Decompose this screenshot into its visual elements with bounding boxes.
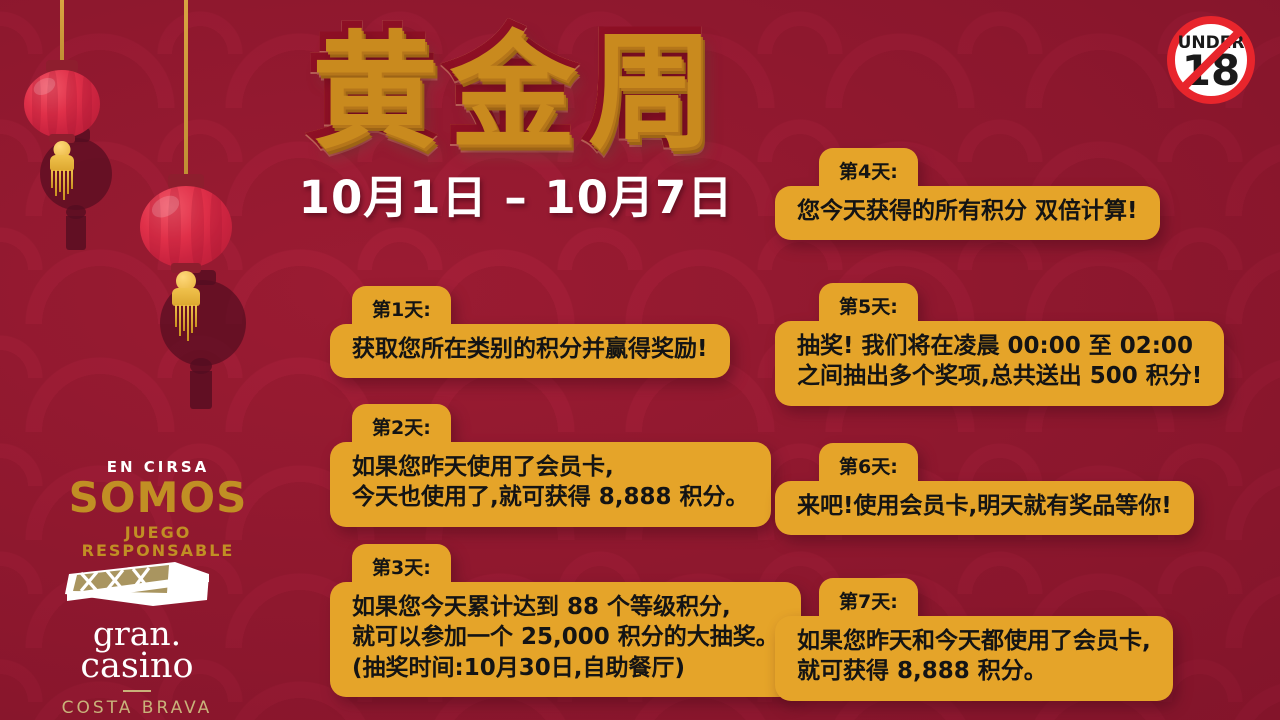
day-card-6-body: 来吧!使用会员卡,明天就有奖品等你! (775, 481, 1194, 535)
day-card-3-line-3: (抽奖时间:10月30日,自助餐厅) (352, 653, 779, 683)
day-card-4[interactable]: 第4天: 您今天获得的所有积分 双倍计算! (775, 148, 1160, 240)
under-18-badge-number: 18 (1182, 46, 1240, 95)
day-card-3-line-2: 就可以参加一个 25,000 积分的大抽奖。 (352, 622, 779, 652)
day-card-2-body: 如果您昨天使用了会员卡, 今天也使用了,就可获得 8,888 积分。 (330, 442, 771, 527)
poster-root: 黄金周 10月1日 – 10月7日 第1天: 获取您所在类别的积分并赢得奖励! … (0, 0, 1280, 720)
lantern-tassel-strands-2 (175, 305, 197, 341)
day-card-1[interactable]: 第1天: 获取您所在类别的积分并赢得奖励! (330, 286, 730, 378)
title-block: 黄金周 10月1日 – 10月7日 (296, 18, 736, 226)
responsible-gaming-logo: EN CIRSA SOMOS JUEGO RESPONSABLE (58, 460, 258, 560)
day-card-2-header: 第2天: (352, 404, 451, 446)
lantern-body-2 (140, 186, 232, 268)
day-card-1-body: 获取您所在类别的积分并赢得奖励! (330, 324, 730, 378)
day-card-7-header: 第7天: (819, 578, 918, 620)
under-18-badge-icon: UNDER 18 (1163, 12, 1259, 108)
day-card-7-body: 如果您昨天和今天都使用了会员卡, 就可获得 8,888 积分。 (775, 616, 1173, 701)
day-card-5[interactable]: 第5天: 抽奖! 我们将在凌晨 00:00 至 02:00 之间抽出多个奖项,总… (775, 283, 1224, 406)
day-card-1-header: 第1天: (352, 286, 451, 328)
day-card-5-line-1: 抽奖! 我们将在凌晨 00:00 至 02:00 (797, 331, 1202, 361)
lantern-cord-2 (184, 0, 188, 176)
day-card-3[interactable]: 第3天: 如果您今天累计达到 88 个等级积分, 就可以参加一个 25,000 … (330, 544, 801, 697)
day-card-2[interactable]: 第2天: 如果您昨天使用了会员卡, 今天也使用了,就可获得 8,888 积分。 (330, 404, 771, 527)
day-card-5-line-2: 之间抽出多个奖项,总共送出 500 积分! (797, 361, 1202, 391)
day-card-2-line-1: 如果您昨天使用了会员卡, (352, 452, 749, 482)
day-card-6-header: 第6天: (819, 443, 918, 485)
casino-logo-name: gran. casino (42, 618, 232, 683)
somos-logo-main: SOMOS (58, 477, 258, 519)
casino-building-icon (57, 560, 217, 612)
day-card-4-header: 第4天: (819, 148, 918, 190)
day-card-7-line-1: 如果您昨天和今天都使用了会员卡, (797, 626, 1151, 656)
day-card-6-line-1: 来吧!使用会员卡,明天就有奖品等你! (797, 491, 1172, 521)
lantern-decoration-2 (0, 0, 300, 470)
day-card-7-line-2: 就可获得 8,888 积分。 (797, 656, 1151, 686)
day-card-5-body: 抽奖! 我们将在凌晨 00:00 至 02:00 之间抽出多个奖项,总共送出 5… (775, 321, 1224, 406)
day-card-7[interactable]: 第7天: 如果您昨天和今天都使用了会员卡, 就可获得 8,888 积分。 (775, 578, 1173, 701)
date-range: 10月1日 – 10月7日 (296, 161, 736, 226)
day-card-6[interactable]: 第6天: 来吧!使用会员卡,明天就有奖品等你! (775, 443, 1194, 535)
day-card-4-body: 您今天获得的所有积分 双倍计算! (775, 186, 1160, 240)
casino-logo-divider (123, 690, 151, 692)
somos-logo-subtitle: JUEGO RESPONSABLE (58, 524, 258, 560)
lantern-tassel-cap-2 (172, 288, 200, 306)
day-card-5-header: 第5天: (819, 283, 918, 325)
day-card-3-line-1: 如果您今天累计达到 88 个等级积分, (352, 592, 779, 622)
day-card-4-line-1: 您今天获得的所有积分 双倍计算! (797, 196, 1138, 226)
somos-logo-sub-line1: JUEGO (125, 523, 192, 542)
somos-logo-sub-line2: RESPONSABLE (82, 541, 235, 560)
day-card-3-header: 第3天: (352, 544, 451, 586)
day-card-3-body: 如果您今天累计达到 88 个等级积分, 就可以参加一个 25,000 积分的大抽… (330, 582, 801, 697)
day-card-1-line-1: 获取您所在类别的积分并赢得奖励! (352, 334, 708, 364)
gran-casino-logo: gran. casino COSTA BRAVA (42, 560, 232, 718)
casino-logo-name-line2: casino (42, 650, 232, 684)
page-title: 黄金周 (296, 18, 736, 159)
casino-logo-region: COSTA BRAVA (42, 698, 232, 718)
day-card-2-line-2: 今天也使用了,就可获得 8,888 积分。 (352, 482, 749, 512)
lantern-silhouette-tassel-strands-2 (190, 371, 212, 409)
